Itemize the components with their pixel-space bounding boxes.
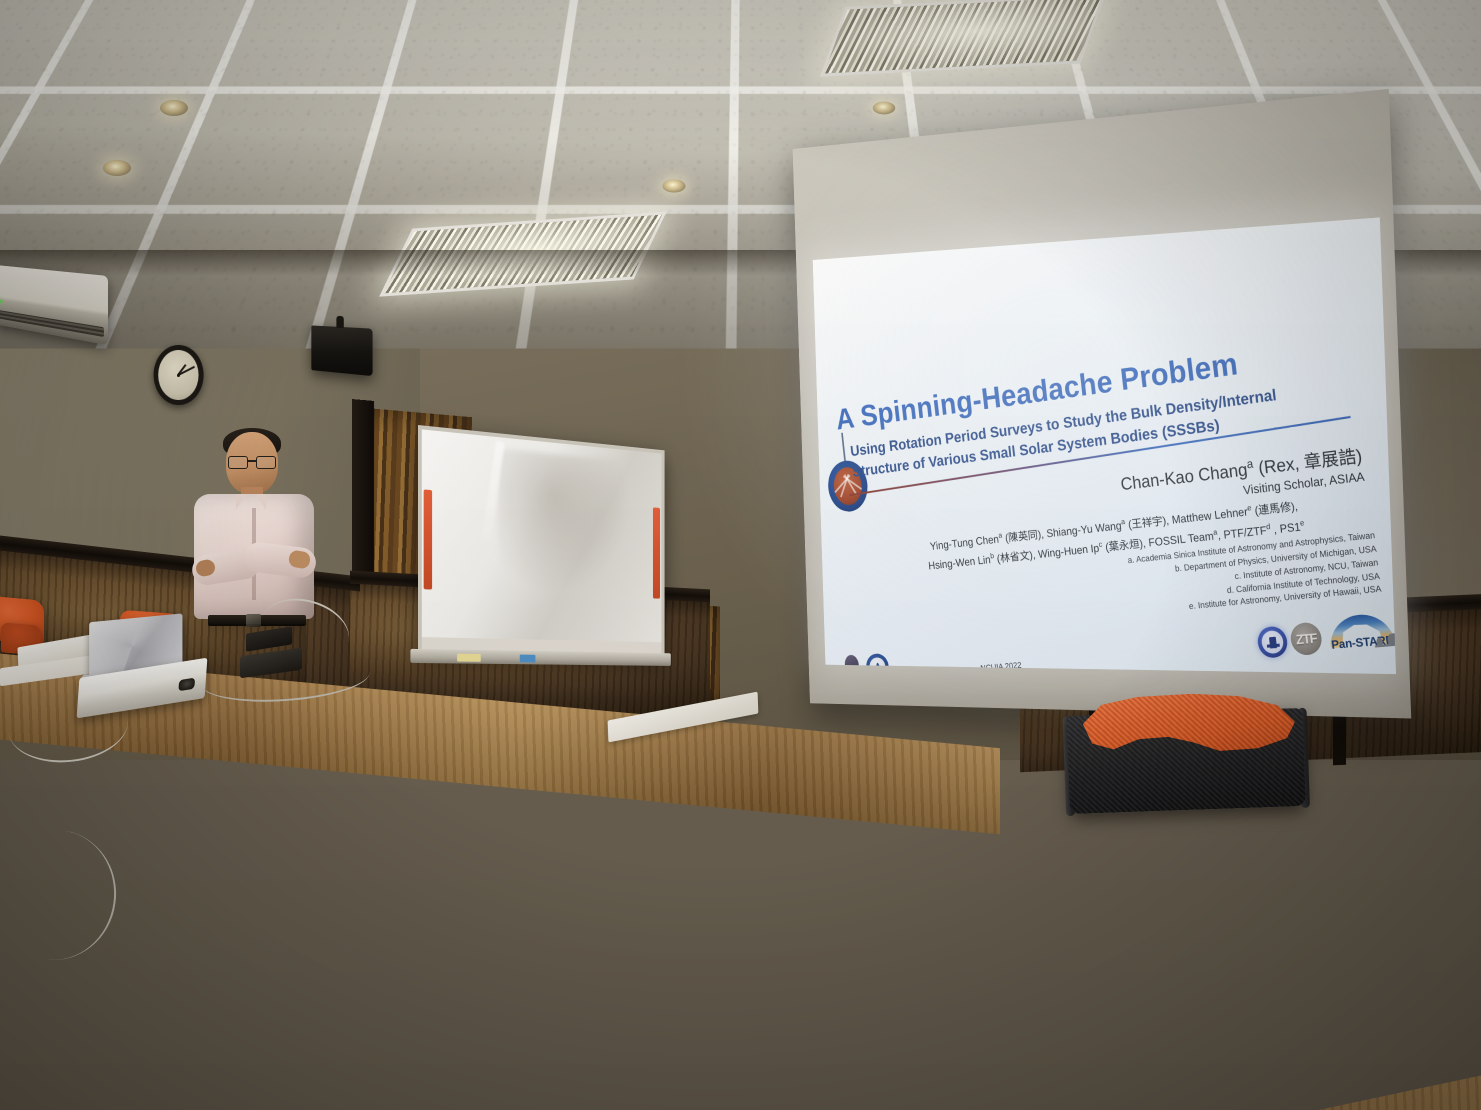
shirt-collar (256, 494, 266, 510)
whiteboard-reflection-shadow (499, 449, 629, 595)
interactive-whiteboard[interactable] (418, 425, 665, 657)
coauthor-name: Hsing-Wen Lin (928, 554, 991, 572)
coauthor-text: (連馬修), (1251, 501, 1298, 518)
clock-center-pin (177, 373, 180, 376)
coauthor-text: , PTF/ZTF (1217, 524, 1267, 541)
conference-room-photo: A Spinning-Headache Problem Using Rotati… (0, 0, 1481, 1110)
whiteboard-surface[interactable] (422, 429, 662, 642)
panstarrs-logo-icon: Pan-STARRS ✦ ✦ ✦ (1323, 610, 1396, 653)
ceiling-speaker (311, 325, 372, 376)
recessed-downlight-icon (160, 100, 188, 116)
glasses-bridge (247, 460, 257, 462)
whiteboard-side-strip (424, 489, 432, 589)
recessed-downlight-icon (663, 179, 686, 192)
power-socket-icon[interactable] (178, 678, 195, 692)
eyeglasses-icon (227, 456, 277, 467)
table-surface-near (0, 1059, 1481, 1110)
speaker-mount-bracket (336, 316, 343, 328)
ac-power-led-icon (0, 300, 2, 303)
recessed-downlight-icon (103, 160, 131, 176)
shirt-collar (236, 494, 246, 510)
dome-small (1376, 637, 1383, 645)
coauthor-sup: e (1299, 518, 1304, 528)
mesh-office-chair[interactable] (1060, 690, 1312, 819)
whiteboard-side-strip (653, 507, 660, 599)
slide-content: A Spinning-Headache Problem Using Rotati… (813, 217, 1396, 674)
light-glow (824, 0, 1102, 74)
glasses-lens (256, 456, 276, 469)
projection-screen: A Spinning-Headache Problem Using Rotati… (793, 89, 1412, 719)
glasses-lens (228, 456, 248, 469)
recessed-downlight-icon (873, 102, 895, 115)
coauthor-text: , PS1 (1270, 521, 1301, 537)
presentation-slide: A Spinning-Headache Problem Using Rotati… (813, 217, 1396, 674)
ztf-logo-text: ZTF (1295, 630, 1317, 647)
